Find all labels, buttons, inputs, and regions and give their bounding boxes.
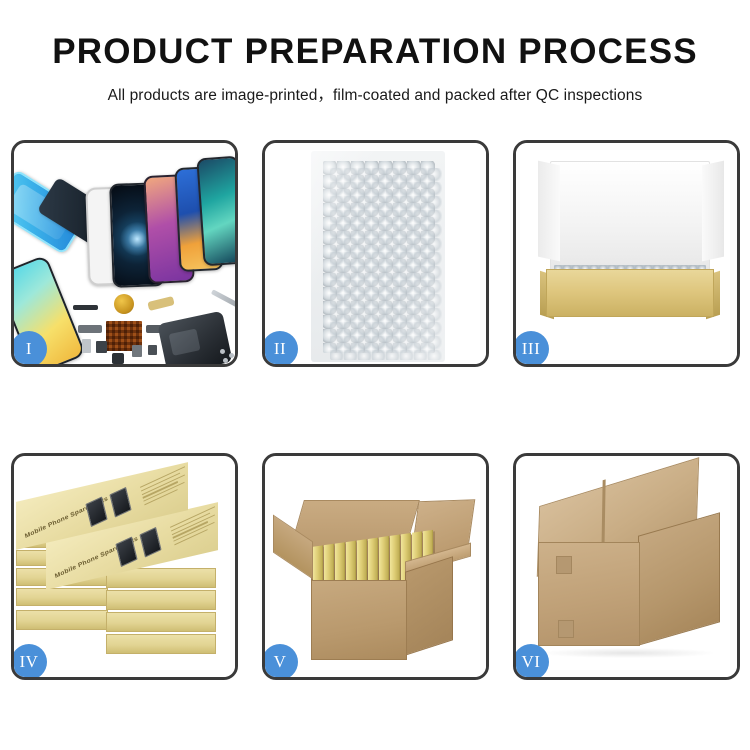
process-step-panel-1: I — [11, 140, 238, 367]
mailer-box-lid — [550, 161, 710, 277]
retail-box-screen-thumb — [109, 487, 131, 518]
retail-box-body — [16, 588, 108, 606]
process-step-grid: I II III — [11, 140, 739, 680]
process-step-panel-6: VI — [513, 453, 740, 680]
connector-part-4 — [132, 345, 142, 357]
carton-front-panel — [311, 580, 407, 660]
speaker-bar-part — [73, 305, 98, 310]
carton-shadow — [542, 648, 714, 658]
retail-box-screen-thumb — [139, 527, 161, 558]
vibration-coil-part — [114, 294, 134, 314]
process-step-panel-3: III — [513, 140, 740, 367]
connector-part-3 — [112, 353, 124, 364]
step-badge-2: II — [262, 331, 298, 367]
retail-box-spec-lines — [140, 465, 192, 508]
retail-box-body — [106, 634, 216, 654]
step-2-illustration — [265, 143, 486, 364]
step-4-illustration: Mobile Phone Spare Parts — [14, 456, 235, 677]
carton-handle-tab-upper — [556, 556, 572, 574]
retail-box-body — [106, 590, 216, 610]
sealed-carton-side — [638, 512, 720, 646]
connector-part-2 — [96, 341, 107, 353]
step-badge-6: VI — [513, 644, 549, 680]
step-badge-4: IV — [11, 644, 47, 680]
product-preparation-infographic: PRODUCT PREPARATION PROCESS All products… — [0, 0, 750, 750]
mailer-box-body — [546, 269, 714, 317]
page-title: PRODUCT PREPARATION PROCESS — [0, 34, 750, 71]
screw-icon — [223, 358, 228, 363]
header: PRODUCT PREPARATION PROCESS All products… — [0, 0, 750, 105]
carton-side-panel — [405, 556, 453, 656]
connector-part-1 — [82, 339, 91, 353]
retail-box-stack: Mobile Phone Spare Parts — [14, 470, 235, 670]
sealed-carton-front — [538, 542, 640, 646]
process-step-panel-4: Mobile Phone Spare Parts — [11, 453, 238, 680]
step-badge-5: V — [262, 644, 298, 680]
step-6-illustration — [516, 456, 737, 677]
screws-group — [220, 349, 235, 363]
step-badge-3: III — [513, 331, 549, 367]
bubble-wrap-highlight — [311, 151, 445, 362]
step-3-illustration — [516, 143, 737, 364]
retail-box-body — [106, 612, 216, 632]
carton-handle-tab-lower — [558, 620, 574, 638]
retail-box-body — [16, 610, 108, 630]
process-step-panel-5: V — [262, 453, 489, 680]
screw-icon — [229, 353, 234, 358]
process-step-panel-2: II — [262, 140, 489, 367]
tweezer-tool — [211, 289, 235, 309]
flex-cable-grey-part — [78, 325, 102, 333]
screw-icon — [220, 349, 225, 354]
inner-box — [390, 534, 400, 585]
mailer-lid-flap-left — [538, 161, 560, 262]
connector-part-5 — [148, 345, 157, 355]
mailer-lid-flap-right — [702, 161, 724, 262]
page-subtitle: All products are image-printed，film-coat… — [0, 83, 750, 105]
step-1-illustration — [14, 143, 235, 364]
step-5-illustration — [265, 456, 486, 677]
step-badge-1: I — [11, 331, 47, 367]
phone-teal-gradient — [196, 156, 235, 267]
spare-parts-group — [70, 293, 235, 364]
flex-cable-gold-part — [147, 296, 174, 311]
phone-fan-group — [14, 143, 235, 293]
